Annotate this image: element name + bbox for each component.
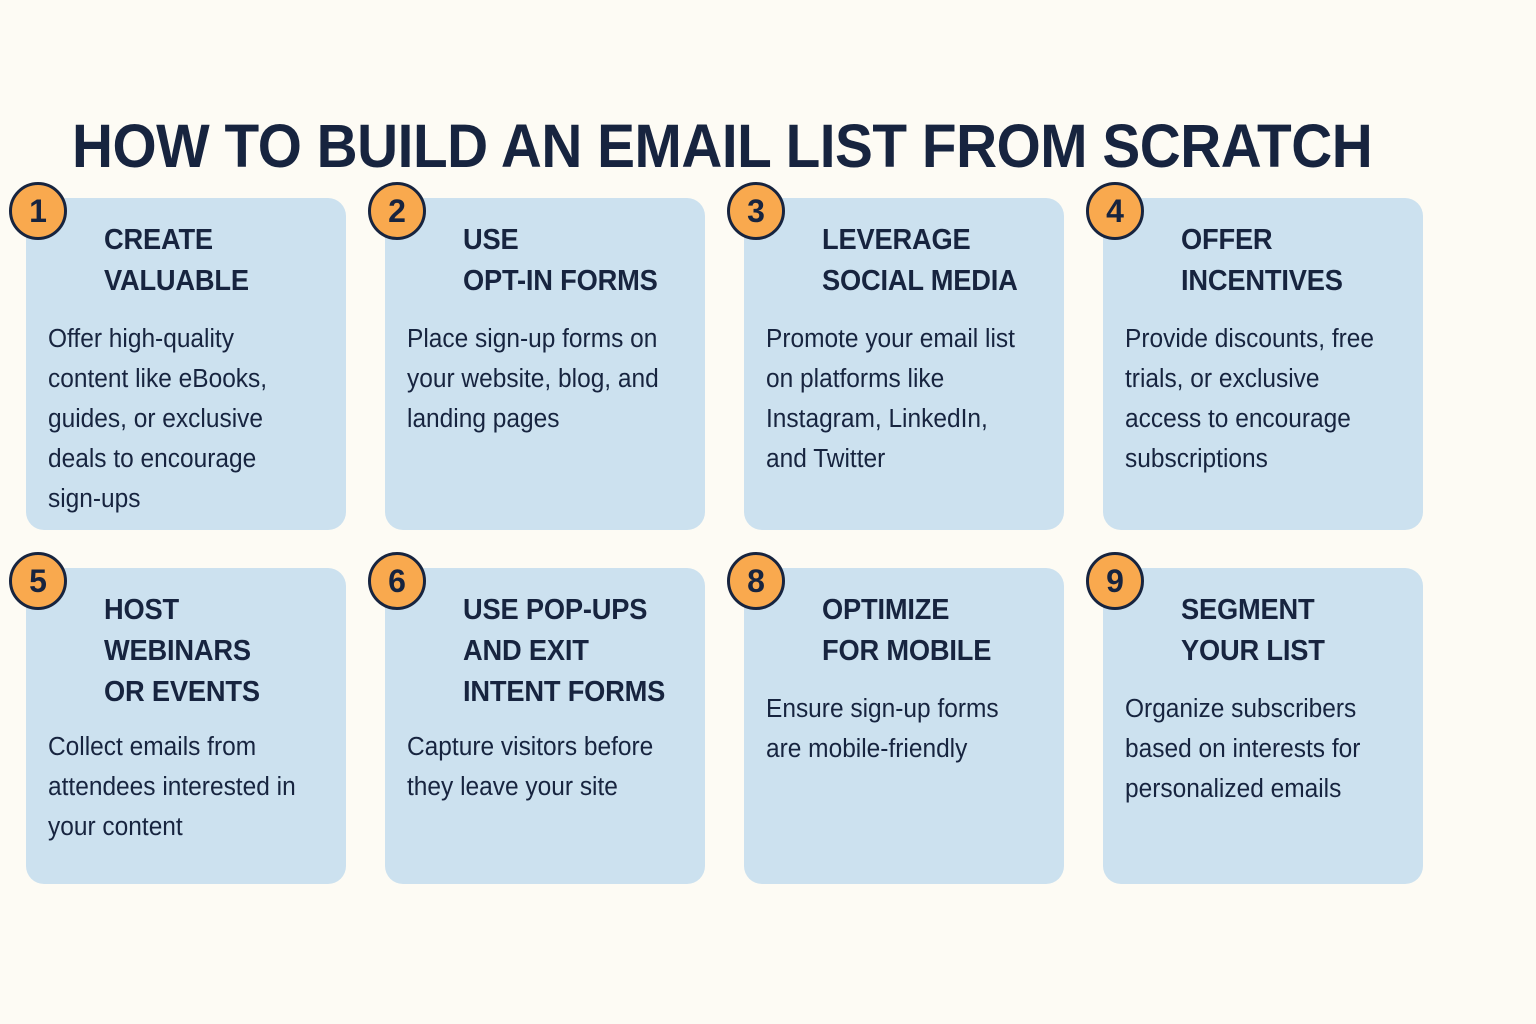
step-number-badge: 1 [9, 182, 67, 240]
step-number-badge: 8 [727, 552, 785, 610]
step-heading: SEGMENT YOUR LIST [1181, 590, 1388, 672]
step-heading: USE POP-UPS AND EXIT INTENT FORMS [463, 590, 670, 713]
step-number-badge: 6 [368, 552, 426, 610]
step-body: Organize subscribers based on interests … [1125, 689, 1390, 809]
steps-grid: 1 CREATE VALUABLE Offer high-quality con… [26, 198, 1422, 884]
step-card-4: 4 OFFER INCENTIVES Provide discounts, fr… [1103, 198, 1423, 530]
step-card-3: 3 LEVERAGE SOCIAL MEDIA Promote your ema… [744, 198, 1064, 530]
step-heading: CREATE VALUABLE [104, 220, 311, 302]
step-heading: LEVERAGE SOCIAL MEDIA [822, 220, 1029, 302]
step-body: Provide discounts, free trials, or exclu… [1125, 319, 1390, 479]
step-number-badge: 2 [368, 182, 426, 240]
infographic-page: HOW TO BUILD AN EMAIL LIST FROM SCRATCH … [0, 0, 1536, 1024]
step-body: Collect emails from attendees interested… [48, 727, 313, 847]
step-number-badge: 5 [9, 552, 67, 610]
step-body: Place sign-up forms on your website, blo… [407, 319, 672, 439]
step-card-9: 9 SEGMENT YOUR LIST Organize subscribers… [1103, 568, 1423, 884]
step-card-5: 5 HOST WEBINARS OR EVENTS Collect emails… [26, 568, 346, 884]
step-card-1: 1 CREATE VALUABLE Offer high-quality con… [26, 198, 346, 530]
step-card-6: 6 USE POP-UPS AND EXIT INTENT FORMS Capt… [385, 568, 705, 884]
step-number-badge: 9 [1086, 552, 1144, 610]
step-heading: HOST WEBINARS OR EVENTS [104, 590, 311, 713]
page-title: HOW TO BUILD AN EMAIL LIST FROM SCRATCH [72, 113, 1374, 179]
step-heading: OPTIMIZE FOR MOBILE [822, 590, 1029, 672]
step-body: Ensure sign-up forms are mobile-friendly [766, 689, 1031, 769]
step-body: Capture visitors before they leave your … [407, 727, 672, 807]
step-heading: OFFER INCENTIVES [1181, 220, 1388, 302]
step-card-8: 8 OPTIMIZE FOR MOBILE Ensure sign-up for… [744, 568, 1064, 884]
step-heading: USE OPT-IN FORMS [463, 220, 670, 302]
step-body: Promote your email list on platforms lik… [766, 319, 1031, 479]
step-body: Offer high-quality content like eBooks, … [48, 319, 313, 519]
step-number-badge: 3 [727, 182, 785, 240]
step-card-2: 2 USE OPT-IN FORMS Place sign-up forms o… [385, 198, 705, 530]
step-number-badge: 4 [1086, 182, 1144, 240]
